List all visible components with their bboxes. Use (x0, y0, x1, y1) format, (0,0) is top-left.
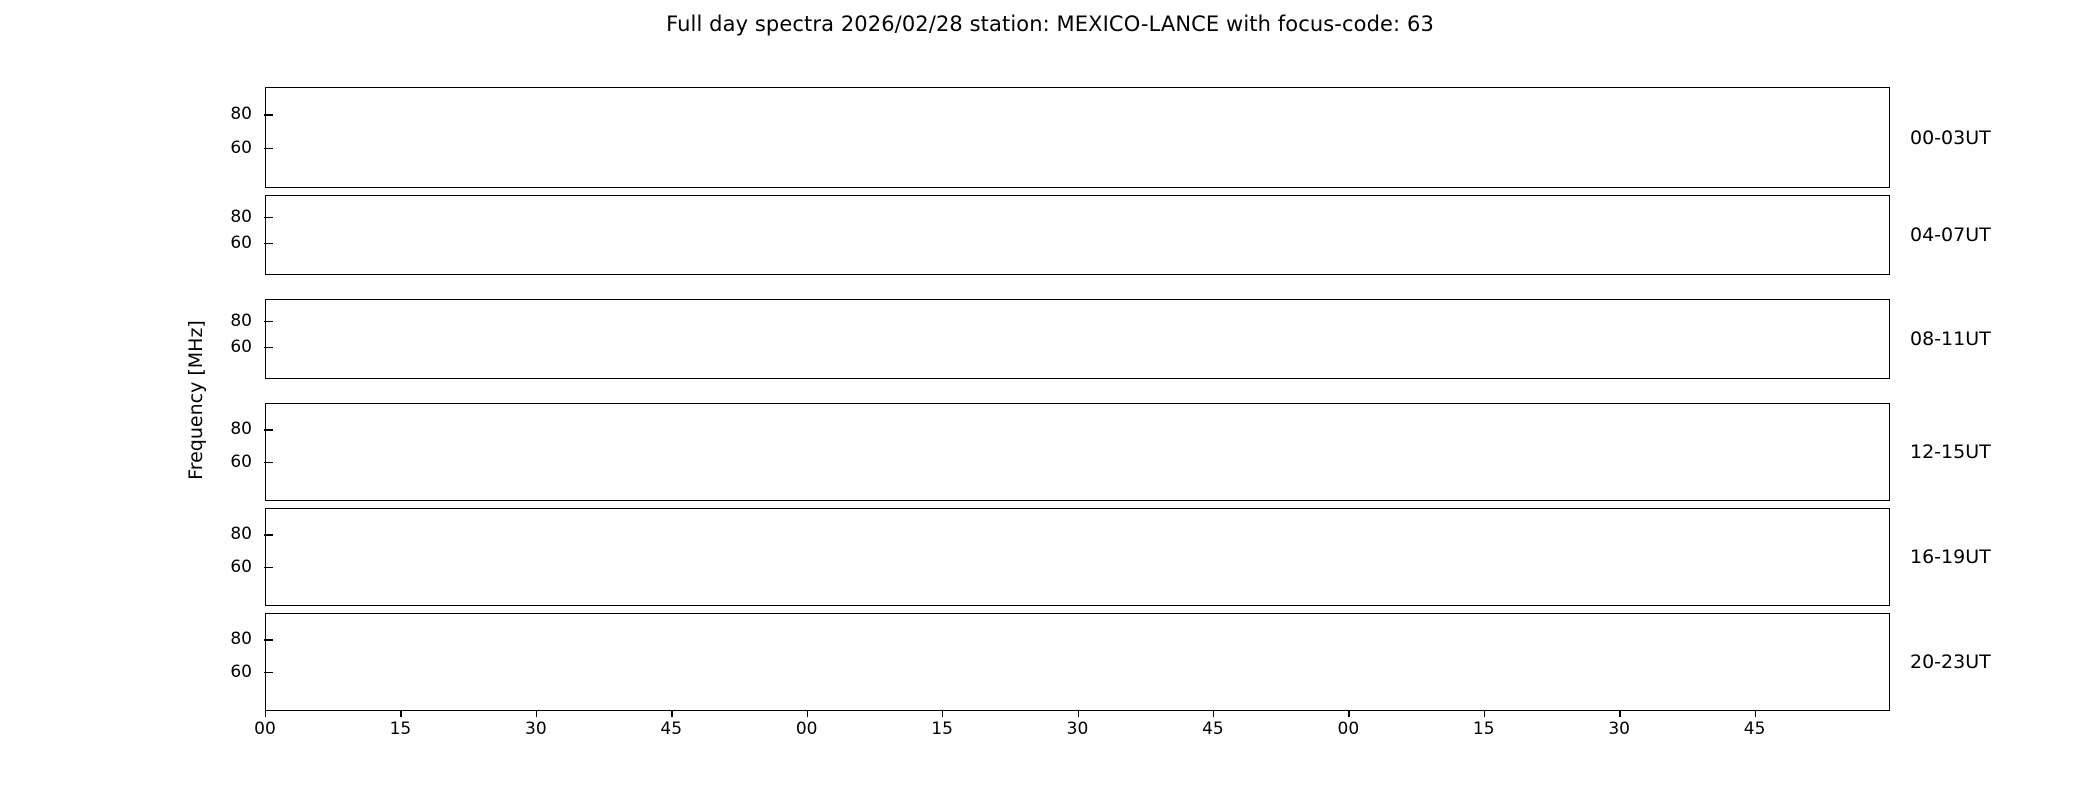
row-label: 08-11UT (1910, 328, 1991, 350)
x-tick-label: 30 (525, 719, 547, 739)
row-label: 20-23UT (1910, 651, 1991, 673)
x-tick-label: 15 (390, 719, 412, 739)
y-tick (264, 462, 273, 463)
figure-title: Full day spectra 2026/02/28 station: MEX… (0, 12, 2100, 36)
y-tick (264, 639, 273, 640)
x-tick (1213, 711, 1214, 717)
y-tick-label: 80 (230, 629, 252, 649)
x-tick-label: 45 (1202, 719, 1224, 739)
row-frame (265, 87, 1890, 188)
x-tick-label: 00 (796, 719, 818, 739)
x-tick-label: 00 (254, 719, 276, 739)
y-tick-label: 80 (230, 207, 252, 227)
y-tick-label: 60 (230, 662, 252, 682)
x-tick (1755, 711, 1756, 717)
x-tick (400, 711, 401, 717)
x-tick (536, 711, 537, 717)
x-tick-label: 30 (1608, 719, 1630, 739)
x-tick (1484, 711, 1485, 717)
x-tick-label: 00 (1338, 719, 1360, 739)
x-tick-label: 45 (1744, 719, 1766, 739)
y-axis-label-text: Frequency [MHz] (185, 320, 207, 480)
y-tick (264, 321, 273, 322)
row-label: 04-07UT (1910, 224, 1991, 246)
y-tick (264, 148, 273, 149)
x-tick (1078, 711, 1079, 717)
spectrogram-row: 8060 (265, 613, 1890, 711)
row-frame (265, 299, 1890, 379)
y-tick (264, 429, 273, 430)
spectrogram-figure: Full day spectra 2026/02/28 station: MEX… (0, 0, 2100, 800)
y-axis-label: Frequency [MHz] (178, 0, 214, 800)
y-tick (264, 567, 273, 568)
y-tick (264, 672, 273, 673)
y-tick-label: 60 (230, 557, 252, 577)
y-tick-label: 80 (230, 311, 252, 331)
y-tick-label: 80 (230, 104, 252, 124)
x-tick (1348, 711, 1349, 717)
y-tick (264, 217, 273, 218)
y-tick-label: 60 (230, 138, 252, 158)
spectrogram-row: 8060 (265, 508, 1890, 606)
x-tick-label: 30 (1067, 719, 1089, 739)
x-axis: 001530450015304500153045 (265, 711, 1890, 751)
y-tick (264, 347, 273, 348)
y-tick (264, 534, 273, 535)
x-tick-label: 15 (1473, 719, 1495, 739)
row-frame (265, 613, 1890, 711)
spectrogram-row: 8060 (265, 195, 1890, 275)
spectrogram-row: 8060 (265, 87, 1890, 188)
row-frame (265, 195, 1890, 275)
row-label: 12-15UT (1910, 441, 1991, 463)
y-tick-label: 80 (230, 419, 252, 439)
row-frame (265, 403, 1890, 501)
y-tick-label: 60 (230, 337, 252, 357)
x-tick (942, 711, 943, 717)
x-tick (807, 711, 808, 717)
row-frame (265, 508, 1890, 606)
x-tick (1619, 711, 1620, 717)
row-label: 16-19UT (1910, 546, 1991, 568)
y-tick (264, 243, 273, 244)
row-label: 00-03UT (1910, 127, 1991, 149)
x-tick (671, 711, 672, 717)
x-tick (265, 711, 266, 717)
y-tick (264, 114, 273, 115)
y-tick-label: 80 (230, 524, 252, 544)
spectrogram-row: 8060 (265, 403, 1890, 501)
y-tick-label: 60 (230, 233, 252, 253)
spectrogram-row: 8060 (265, 299, 1890, 379)
x-tick-label: 45 (660, 719, 682, 739)
x-tick-label: 15 (931, 719, 953, 739)
y-tick-label: 60 (230, 452, 252, 472)
